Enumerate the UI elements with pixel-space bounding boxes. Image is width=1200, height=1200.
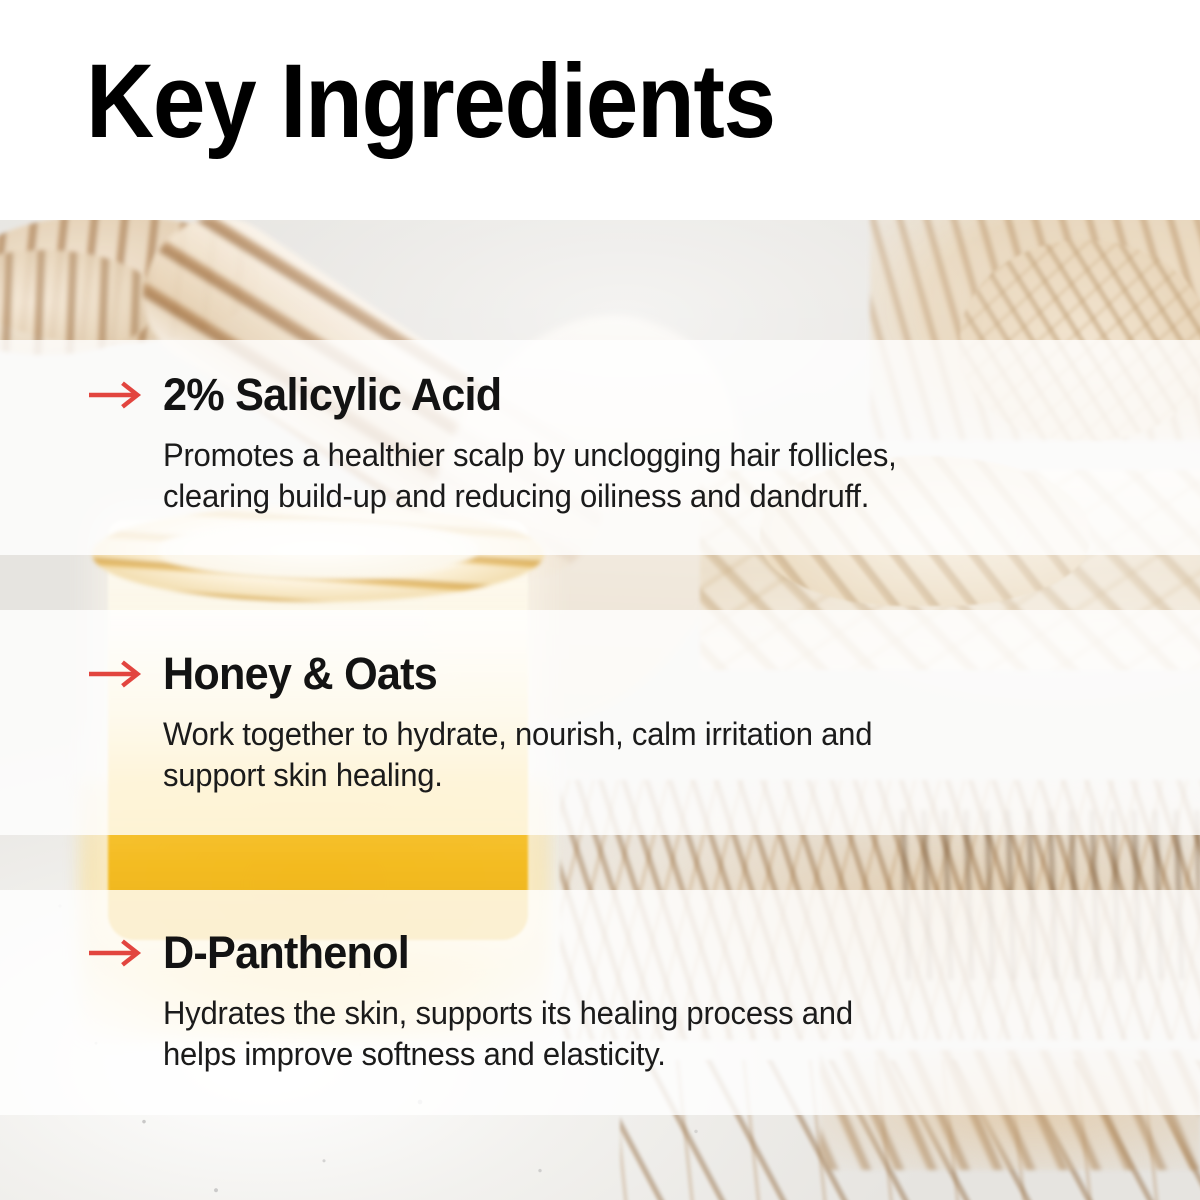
ingredient-1-description: Promotes a healthier scalp by unclogging… [163, 435, 897, 517]
arrow-right-icon [88, 380, 142, 410]
ingredient-1-heading-row: 2% Salicylic Acid [88, 371, 919, 419]
ingredient-item-3: D-Panthenol Hydrates the skin, supports … [88, 929, 874, 1075]
ingredient-item-2: Honey & Oats Work together to hydrate, n… [88, 650, 894, 796]
ingredient-3-heading-row: D-Panthenol [88, 929, 874, 977]
ingredient-2-heading-row: Honey & Oats [88, 650, 894, 698]
page-header: Key Ingredients [0, 0, 1200, 220]
ingredient-3-name: D-Panthenol [163, 929, 409, 977]
ingredient-2-name: Honey & Oats [163, 650, 437, 698]
arrow-right-icon [88, 659, 142, 689]
ingredient-3-description: Hydrates the skin, supports its healing … [163, 993, 853, 1075]
ingredient-item-1: 2% Salicylic Acid Promotes a healthier s… [88, 371, 919, 517]
ingredient-1-name: 2% Salicylic Acid [163, 371, 501, 419]
key-ingredients-page: Key Ingredients 2% Sali [0, 0, 1200, 1200]
arrow-right-icon [88, 938, 142, 968]
page-title: Key Ingredients [86, 46, 775, 157]
ingredient-2-description: Work together to hydrate, nourish, calm … [163, 714, 872, 796]
